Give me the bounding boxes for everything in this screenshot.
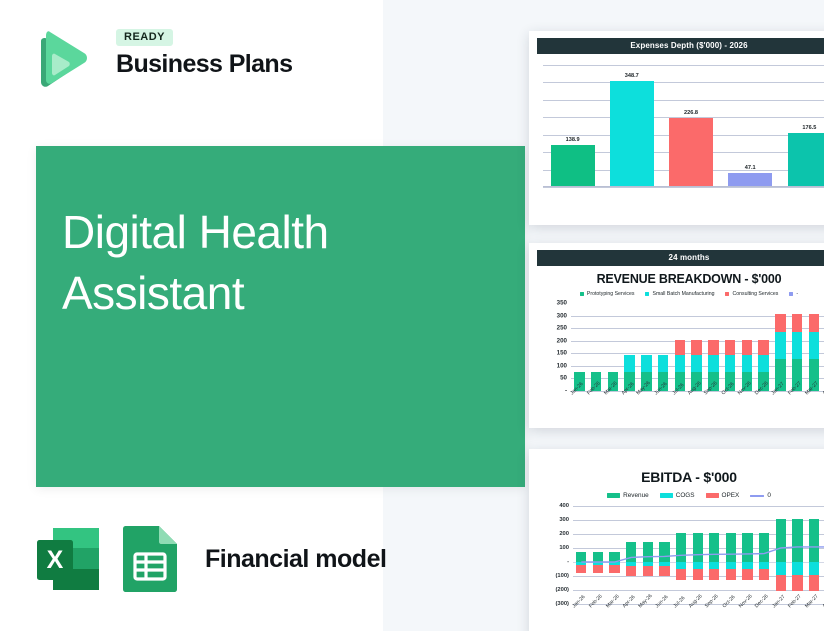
bar-segment xyxy=(676,533,686,562)
bar-segment xyxy=(659,542,669,562)
stacked-bar xyxy=(758,303,768,391)
stacked-bar xyxy=(658,303,668,391)
bar-segment xyxy=(792,575,802,591)
stacked-bar-positive xyxy=(576,552,586,563)
bar-slot: May-26 xyxy=(638,303,655,391)
legend-item: COGS xyxy=(660,492,695,499)
bar-slot: Jan-27 xyxy=(773,506,790,604)
bar-slot: Jan-27 xyxy=(772,303,789,391)
expenses-bars: 138.9348.7226.847.1176.5 xyxy=(543,65,824,187)
y-axis-tick: 300 xyxy=(557,312,567,319)
bar-segment xyxy=(776,519,786,562)
bar-segment xyxy=(709,569,719,580)
revenue-legend: Prototyping ServicesSmall Batch Manufact… xyxy=(537,291,824,297)
bar-segment xyxy=(643,542,653,562)
bar-segment xyxy=(792,332,802,358)
legend-swatch xyxy=(607,493,620,498)
bar-segment xyxy=(742,533,752,562)
brand-wordmark: READY Business Plans xyxy=(116,27,292,77)
legend-label: Small Batch Manufacturing xyxy=(652,291,714,297)
legend-label: 0 xyxy=(767,492,771,499)
bar-slot: Aug-26 xyxy=(688,303,705,391)
legend-label: COGS xyxy=(676,492,695,499)
bar-slot: Jun-26 xyxy=(655,303,672,391)
y-axis-tick: (200) xyxy=(555,587,569,593)
bar-slot: Apr-26 xyxy=(623,506,640,604)
x-axis-tick: Nov-26 xyxy=(737,593,753,609)
bar-slot: Aug-26 xyxy=(689,506,706,604)
stacked-bar xyxy=(574,303,584,391)
svg-text:X: X xyxy=(47,546,64,574)
bar-segment xyxy=(708,355,718,372)
bar-segment xyxy=(759,562,769,569)
y-axis-tick: 100 xyxy=(557,362,567,369)
stacked-bar-negative xyxy=(792,562,802,591)
bar-segment xyxy=(693,569,703,580)
legend-item: Consulting Services xyxy=(725,291,778,297)
bar-slot: Mar-26 xyxy=(606,506,623,604)
stacked-bar-positive xyxy=(776,519,786,562)
bar-slot: Jul-26 xyxy=(672,303,689,391)
bar-segment xyxy=(675,340,685,355)
y-axis-tick: 50 xyxy=(560,375,567,382)
bar-segment xyxy=(709,562,719,569)
bar-slot: May-26 xyxy=(640,506,657,604)
bar-slot: Oct-26 xyxy=(723,506,740,604)
bar-slot: Oct-26 xyxy=(722,303,739,391)
chart-card-ebitda: EBITDA - $'000 RevenueCOGSOPEX0 40030020… xyxy=(529,449,824,631)
bar-slot: Jan-26 xyxy=(573,506,590,604)
bar-segment xyxy=(609,552,619,563)
bar-slot: Nov-26 xyxy=(739,303,756,391)
bar-segment xyxy=(641,355,651,372)
bar-segment xyxy=(726,533,736,562)
y-axis-tick: - xyxy=(565,388,567,395)
x-axis-tick: Dec-26 xyxy=(754,593,770,609)
bar-segment xyxy=(792,519,802,562)
bar-slot: Dec-26 xyxy=(755,303,772,391)
legend-label: OPEX xyxy=(722,492,740,499)
bar-segment xyxy=(726,569,736,580)
bar-segment xyxy=(693,533,703,562)
bar-segment xyxy=(776,562,786,575)
bar-slot: Jan-26 xyxy=(571,303,588,391)
x-axis-tick: Jan-26 xyxy=(572,594,587,609)
bar-slot: 226.8 xyxy=(661,65,720,187)
revenue-plot-area: 35030025020015010050-Jan-26Feb-26Mar-26A… xyxy=(571,303,824,391)
stacked-bar xyxy=(691,303,701,391)
bar-segment xyxy=(643,566,653,576)
y-axis-tick: 300 xyxy=(559,517,569,523)
y-axis-tick: 200 xyxy=(559,531,569,537)
x-axis-tick: Sep-26 xyxy=(704,593,720,609)
bar-segment xyxy=(758,340,768,355)
bar-slot: 176.5 xyxy=(780,65,824,187)
bar-segment xyxy=(626,542,636,562)
stacked-bar xyxy=(624,303,634,391)
bar-segment xyxy=(792,314,802,333)
bar-segment xyxy=(726,562,736,569)
stacked-bar-positive xyxy=(659,542,669,562)
bar-segment xyxy=(691,355,701,372)
ready-badge: READY xyxy=(116,29,173,46)
bar-value-label: 47.1 xyxy=(745,165,756,171)
stacked-bar-positive xyxy=(593,552,603,563)
bar-segment xyxy=(676,562,686,569)
bar: 348.7 xyxy=(610,81,654,187)
bar: 176.5 xyxy=(788,133,824,187)
bar-segment xyxy=(626,566,636,576)
legend-swatch xyxy=(580,292,584,296)
bar-segment xyxy=(676,569,686,580)
expenses-chart-title: Expenses Depth ($'000) - 2026 xyxy=(537,38,824,54)
bar-value-label: 176.5 xyxy=(802,125,816,131)
ebitda-plot-area: 400300200100-(100)(200)(300)Jan-26Feb-26… xyxy=(573,506,824,604)
bar-segment xyxy=(742,562,752,569)
stacked-bar-negative xyxy=(609,562,619,573)
y-axis-tick: 350 xyxy=(557,300,567,307)
bar-segment xyxy=(776,575,786,591)
bar-segment xyxy=(675,355,685,372)
legend-swatch xyxy=(706,493,719,498)
bar-slot: Mar-27 xyxy=(806,506,823,604)
stacked-bar-negative xyxy=(759,562,769,580)
microsoft-excel-icon: X xyxy=(33,524,103,594)
legend-swatch xyxy=(660,493,673,498)
stacked-bar-positive xyxy=(676,533,686,562)
bar-segment xyxy=(759,569,769,580)
legend-swatch xyxy=(725,292,729,296)
stacked-bar xyxy=(591,303,601,391)
bar-segment xyxy=(659,566,669,576)
bar-segment xyxy=(759,533,769,562)
stacked-bar-negative xyxy=(626,562,636,576)
legend-swatch xyxy=(645,292,649,296)
bar-segment xyxy=(742,340,752,355)
stacked-bar-positive xyxy=(742,533,752,562)
legend-item: Revenue xyxy=(607,492,649,499)
bar-slot: Feb-27 xyxy=(789,506,806,604)
bar-slot: Sep-26 xyxy=(705,303,722,391)
stacked-bar-negative xyxy=(726,562,736,580)
bar-segment xyxy=(693,562,703,569)
y-axis-tick: 150 xyxy=(557,350,567,357)
bar-value-label: 226.8 xyxy=(684,110,698,116)
bar-segment xyxy=(691,340,701,355)
bar-segment xyxy=(708,340,718,355)
legend-label: - xyxy=(796,291,798,297)
revenue-bars: Jan-26Feb-26Mar-26Apr-26May-26Jun-26Jul-… xyxy=(571,303,824,391)
legend-label: Revenue xyxy=(623,492,649,499)
stacked-bar-negative xyxy=(593,562,603,573)
page-title-line-2: Assistant xyxy=(62,263,502,324)
x-axis-tick: Mar-26 xyxy=(605,594,621,610)
x-axis-tick: Aug-26 xyxy=(687,593,703,609)
stacked-bar-positive xyxy=(809,519,819,562)
x-axis-tick: Apr-26 xyxy=(622,594,637,609)
bar-segment xyxy=(809,332,819,358)
bar-slot: Sep-26 xyxy=(706,506,723,604)
bar-segment xyxy=(809,575,819,591)
stacked-bar xyxy=(809,303,819,391)
google-sheets-icon xyxy=(119,524,181,594)
bar-segment xyxy=(593,565,603,573)
bar-slot: Nov-26 xyxy=(739,506,756,604)
bar-segment xyxy=(758,355,768,372)
bar-slot: Mar-27 xyxy=(806,303,823,391)
bar-segment xyxy=(742,355,752,372)
stacked-bar-negative xyxy=(809,562,819,591)
stacked-bar-positive xyxy=(643,542,653,562)
legend-label: Consulting Services xyxy=(732,291,778,297)
bar-slot: 47.1 xyxy=(721,65,780,187)
x-axis-tick: Feb-26 xyxy=(588,594,604,610)
bar-segment xyxy=(609,565,619,573)
axis-baseline xyxy=(543,186,824,187)
stacked-bar-positive xyxy=(709,533,719,562)
x-axis-tick: Oct-26 xyxy=(721,594,736,609)
bar-slot: Jun-26 xyxy=(656,506,673,604)
y-axis-tick: - xyxy=(567,559,569,565)
bar-slot: Feb-26 xyxy=(590,506,607,604)
chart-card-expenses-depth: Expenses Depth ($'000) - 2026 138.9348.7… xyxy=(529,31,824,225)
y-axis-tick: 250 xyxy=(557,325,567,332)
stacked-bar xyxy=(708,303,718,391)
bar-segment xyxy=(792,562,802,575)
bar: 226.8 xyxy=(669,118,713,187)
legend-item: - xyxy=(789,291,798,297)
stacked-bar-negative xyxy=(659,562,669,576)
stacked-bar-negative xyxy=(643,562,653,576)
stacked-bar-negative xyxy=(776,562,786,591)
bar-slot: 348.7 xyxy=(602,65,661,187)
stacked-bar-negative xyxy=(709,562,719,580)
stacked-bar xyxy=(792,303,802,391)
bar-slot: Feb-27 xyxy=(789,303,806,391)
bar-segment xyxy=(576,552,586,563)
revenue-chart-title: REVENUE BREAKDOWN - $'000 xyxy=(537,272,824,286)
legend-item: OPEX xyxy=(706,492,740,499)
bar-segment xyxy=(809,562,819,575)
legend-item: 0 xyxy=(750,492,771,499)
x-axis-tick: May-26 xyxy=(637,593,653,609)
bar-segment xyxy=(809,314,819,333)
brand-logo: READY Business Plans xyxy=(28,25,328,95)
stacked-bar-negative xyxy=(693,562,703,580)
stacked-bar-negative xyxy=(676,562,686,580)
hero-panel: Digital Health Assistant xyxy=(36,146,525,487)
expenses-plot-area: 138.9348.7226.847.1176.5 xyxy=(543,65,824,187)
legend-swatch xyxy=(750,495,764,497)
bar-slot: Dec-26 xyxy=(756,506,773,604)
gridline xyxy=(543,187,824,188)
stacked-bar-positive xyxy=(792,519,802,562)
ebitda-bars: Jan-26Feb-26Mar-26Apr-26May-26Jun-26Jul-… xyxy=(573,506,824,604)
stacked-bar-positive xyxy=(609,552,619,563)
legend-swatch xyxy=(789,292,793,296)
bar-segment xyxy=(593,552,603,563)
legend-label: Prototyping Services xyxy=(587,291,635,297)
bar-segment xyxy=(725,355,735,372)
ebitda-chart-title: EBITDA - $'000 xyxy=(537,469,824,485)
slide-canvas: READY Business Plans Digital Health Assi… xyxy=(0,0,824,631)
y-axis-tick: (300) xyxy=(555,601,569,607)
x-axis-tick: Jul-26 xyxy=(672,595,686,609)
y-axis-tick: 100 xyxy=(559,545,569,551)
ebitda-legend: RevenueCOGSOPEX0 xyxy=(537,492,824,499)
legend-item: Prototyping Services xyxy=(580,291,635,297)
bar-segment xyxy=(658,355,668,372)
stacked-bar-positive xyxy=(726,533,736,562)
footer-label: Financial model xyxy=(205,545,386,574)
bar-segment xyxy=(624,355,634,373)
y-axis-tick: 200 xyxy=(557,337,567,344)
bar: 47.1 xyxy=(728,173,772,187)
bar-slot: Jul-26 xyxy=(673,506,690,604)
revenue-period-header: 24 months xyxy=(537,250,824,266)
bar-segment xyxy=(775,332,785,358)
x-axis-tick: Jan-27 xyxy=(771,594,786,609)
y-axis-tick: 400 xyxy=(559,503,569,509)
bar-segment xyxy=(709,533,719,562)
footer-row: X Financial model xyxy=(33,523,386,595)
stacked-bar-negative xyxy=(742,562,752,580)
stacked-bar-negative xyxy=(576,562,586,573)
legend-item: Small Batch Manufacturing xyxy=(645,291,714,297)
stacked-bar-positive xyxy=(759,533,769,562)
stacked-bar-positive xyxy=(626,542,636,562)
page-title: Digital Health Assistant xyxy=(62,202,502,323)
x-axis-tick: Feb-27 xyxy=(787,594,803,610)
bar-segment xyxy=(725,340,735,355)
x-axis-tick: Mar-27 xyxy=(804,594,820,610)
bar-segment xyxy=(576,565,586,573)
x-axis-tick: Jun-26 xyxy=(655,594,670,609)
play-triangle-logo-icon xyxy=(28,28,94,94)
bar-segment xyxy=(775,314,785,333)
bar-value-label: 348.7 xyxy=(625,73,639,79)
stacked-bar xyxy=(725,303,735,391)
stacked-bar xyxy=(775,303,785,391)
bar-segment xyxy=(809,519,819,562)
bar: 138.9 xyxy=(551,145,595,187)
stacked-bar xyxy=(608,303,618,391)
bar-segment xyxy=(742,569,752,580)
page-title-line-1: Digital Health xyxy=(62,202,502,263)
stacked-bar-positive xyxy=(693,533,703,562)
bar-value-label: 138.9 xyxy=(566,137,580,143)
chart-card-revenue-breakdown: 24 months REVENUE BREAKDOWN - $'000 Prot… xyxy=(529,243,824,428)
y-axis-tick: (100) xyxy=(555,573,569,579)
bar-slot: 138.9 xyxy=(543,65,602,187)
bar-slot: Mar-26 xyxy=(605,303,622,391)
stacked-bar xyxy=(641,303,651,391)
bar-slot: Apr-26 xyxy=(621,303,638,391)
stacked-bar xyxy=(742,303,752,391)
brand-name: Business Plans xyxy=(116,51,292,77)
bar-slot: Feb-26 xyxy=(588,303,605,391)
stacked-bar xyxy=(675,303,685,391)
